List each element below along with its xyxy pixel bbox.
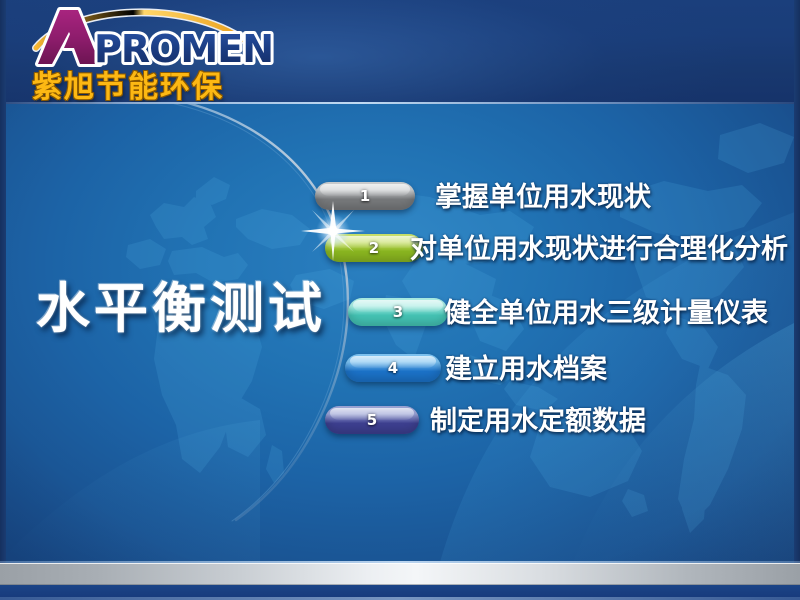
frame-left-edge	[0, 0, 6, 600]
list-item[interactable]: 1掌握单位用水现状	[0, 180, 800, 214]
logo-header-bar: PROMEN PROMEN 紫旭节能环保	[0, 0, 800, 104]
list-item-label: 健全单位用水三级计量仪表	[444, 291, 768, 330]
list-item-label: 建立用水档案	[445, 347, 607, 386]
step-number-pill[interactable]: 5	[325, 406, 419, 434]
step-number: 4	[388, 359, 398, 377]
step-number-pill[interactable]: 4	[345, 354, 441, 382]
presentation-slide: PROMEN PROMEN 紫旭节能环保 水平衡测试 1掌握单位用水现状2对单位…	[0, 0, 800, 600]
frame-right-edge	[794, 0, 800, 600]
step-number: 2	[369, 239, 379, 257]
list-item-label: 掌握单位用水现状	[435, 175, 651, 214]
step-number-pill[interactable]: 2	[325, 234, 423, 262]
list-item[interactable]: 3健全单位用水三级计量仪表	[0, 296, 800, 330]
list-item-label: 对单位用水现状进行合理化分析	[410, 227, 788, 266]
company-name-cn: 紫旭节能环保	[32, 62, 224, 104]
list-item[interactable]: 4建立用水档案	[0, 352, 800, 386]
list-item[interactable]: 2对单位用水现状进行合理化分析	[0, 232, 800, 266]
step-number-pill[interactable]: 3	[348, 298, 448, 326]
silver-divider-band	[0, 563, 800, 585]
step-number: 1	[360, 187, 370, 205]
step-number: 3	[393, 303, 403, 321]
list-item-label: 制定用水定额数据	[430, 399, 646, 438]
step-number-pill[interactable]: 1	[315, 182, 415, 210]
header-divider-rule	[0, 102, 800, 104]
list-item[interactable]: 5制定用水定额数据	[0, 404, 800, 438]
step-number: 5	[367, 411, 377, 429]
